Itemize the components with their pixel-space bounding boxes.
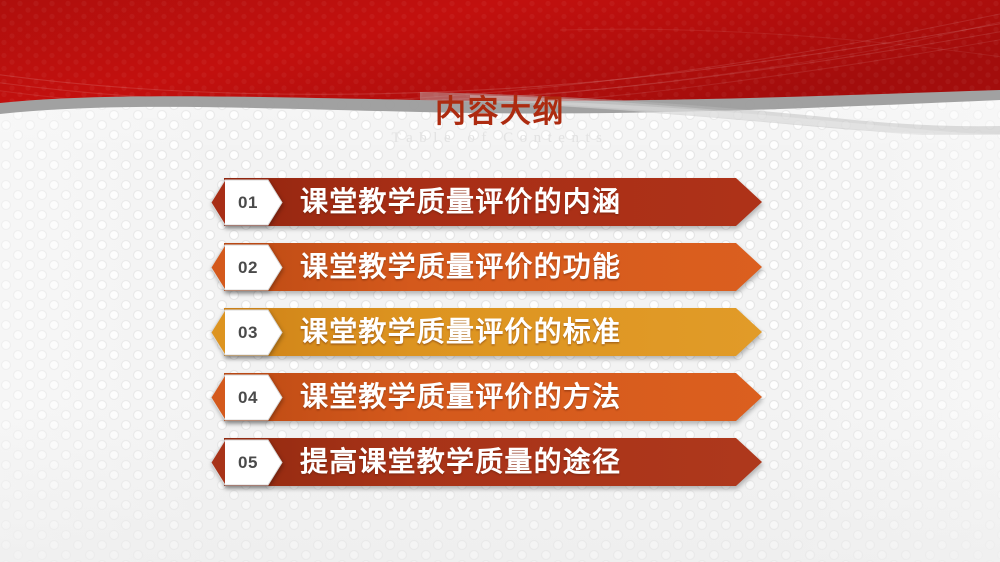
list-item[interactable]: 03 课堂教学质量评价的标准 [0,308,1000,361]
list-item[interactable]: 02 课堂教学质量评价的功能 [0,243,1000,296]
toc-label: 课堂教学质量评价的标准 [300,308,621,356]
page-subtitle: Table of Contents [0,130,1000,147]
toc-label: 课堂教学质量评价的内涵 [300,178,621,226]
list-item[interactable]: 05 提高课堂教学质量的途径 [0,438,1000,491]
page-title: 内容大纲 [0,95,1000,129]
list-item[interactable]: 04 课堂教学质量评价的方法 [0,373,1000,426]
toc-number: 03 [206,305,284,360]
toc-label: 提高课堂教学质量的途径 [300,438,621,486]
toc-number: 02 [206,240,284,295]
toc-label: 课堂教学质量评价的方法 [300,373,621,421]
list-item[interactable]: 01 课堂教学质量评价的内涵 [0,178,1000,231]
toc-number: 05 [206,435,284,490]
slide-canvas: 内容大纲 Table of Contents [0,0,1000,562]
title-block: 内容大纲 Table of Contents [0,95,1000,147]
toc-number: 04 [206,370,284,425]
toc-label: 课堂教学质量评价的功能 [300,243,621,291]
toc-number: 01 [206,175,284,230]
toc-list: 01 课堂教学质量评价的内涵 [0,178,1000,503]
